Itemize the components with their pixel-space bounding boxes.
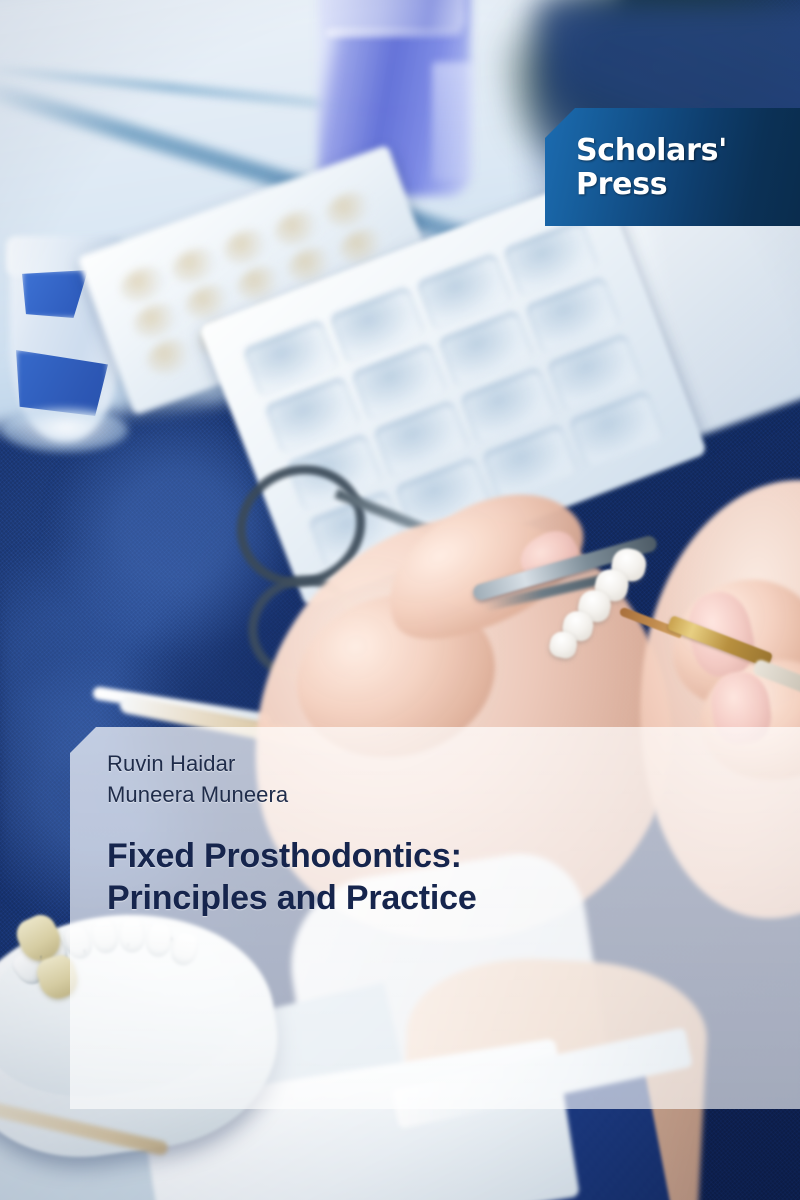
author-name-2: Muneera Muneera: [107, 779, 288, 810]
book-title: Fixed Prosthodontics: Principles and Pra…: [107, 835, 747, 919]
book-cover: Scholars' Press Ruvin Haidar Muneera Mun…: [0, 0, 800, 1200]
publisher-name: Scholars' Press: [576, 134, 727, 202]
author-list: Ruvin Haidar Muneera Muneera: [107, 748, 288, 810]
publisher-logo-badge: Scholars' Press: [545, 108, 800, 226]
author-name-1: Ruvin Haidar: [107, 748, 288, 779]
